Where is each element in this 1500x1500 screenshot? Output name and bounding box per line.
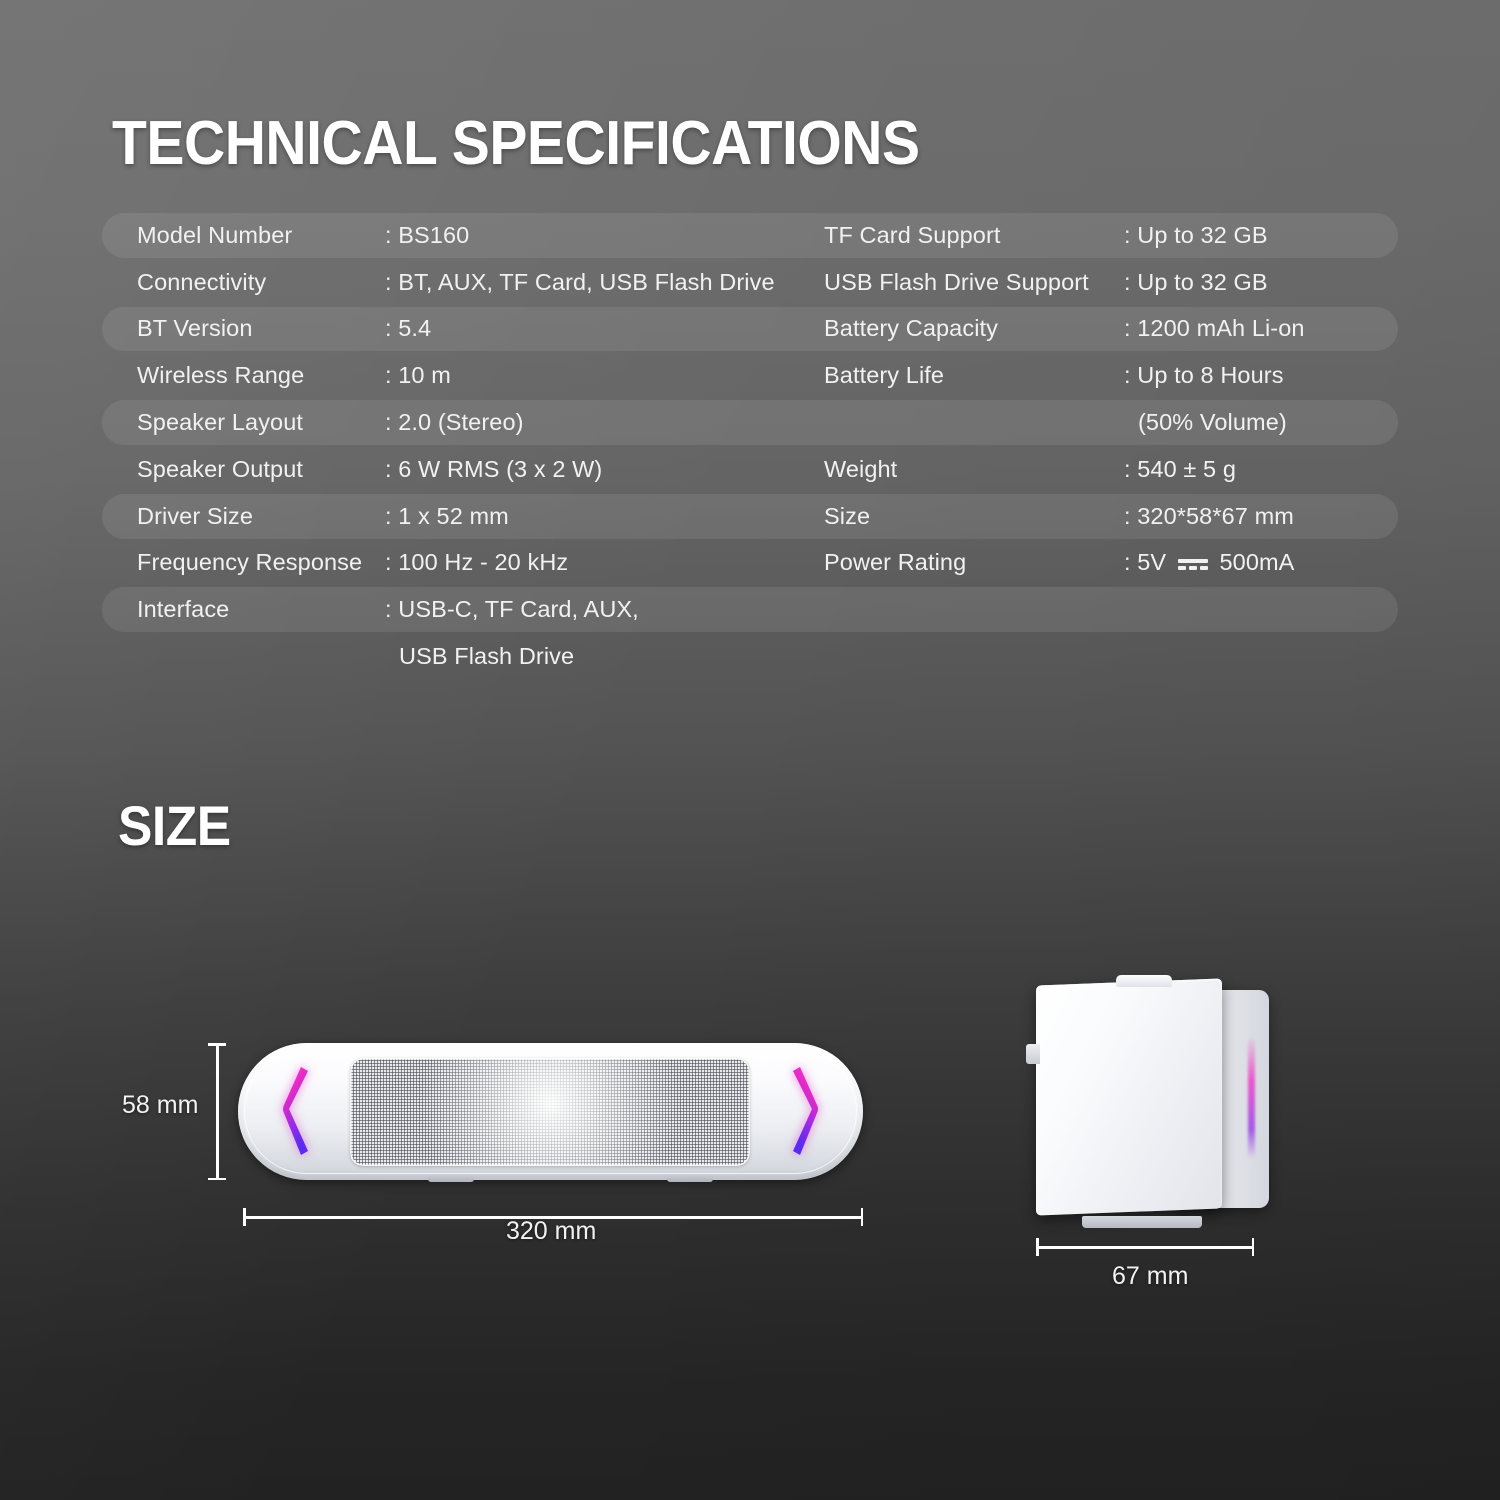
led-chevron-left-icon: [282, 1063, 316, 1159]
spec-label: Power Rating: [824, 549, 1124, 576]
spec-value: : 5.4: [385, 315, 431, 342]
speaker-foot-left: [428, 1175, 474, 1182]
table-row: Speaker Layout : 2.0 (Stereo) (50% Volum…: [102, 399, 1398, 446]
dimension-label-width: 320 mm: [506, 1217, 596, 1246]
speaker-side-panel: [1036, 978, 1222, 1215]
spec-value: : 6 W RMS (3 x 2 W): [385, 456, 602, 483]
spec-cell-left: Frequency Response : 100 Hz - 20 kHz: [102, 549, 814, 576]
dimension-cap-depth-right: [1252, 1238, 1255, 1256]
table-row: USB Flash Drive: [102, 633, 1398, 680]
speaker-side-view: [1034, 982, 1269, 1220]
table-row: Connectivity : BT, AUX, TF Card, USB Fla…: [102, 259, 1398, 306]
spec-cell-left: Driver Size : 1 x 52 mm: [102, 503, 814, 530]
spec-label: Model Number: [137, 222, 385, 249]
dimension-cap-width-left: [243, 1208, 246, 1226]
spec-value: : BS160: [385, 222, 469, 249]
spec-value-continuation: (50% Volume): [1124, 409, 1287, 436]
speaker-front-view: [238, 1043, 863, 1180]
spec-cell-left: Interface : USB-C, TF Card, AUX,: [102, 596, 814, 623]
speaker-top-nub: [1116, 975, 1172, 987]
specifications-table: Model Number : BS160 TF Card Support : U…: [102, 212, 1398, 680]
table-row: BT Version : 5.4 Battery Capacity : 1200…: [102, 306, 1398, 353]
spec-cell-right: TF Card Support : Up to 32 GB: [814, 222, 1398, 249]
spec-cell-left: Model Number : BS160: [102, 222, 814, 249]
spec-cell-right: USB Flash Drive Support : Up to 32 GB: [814, 269, 1398, 296]
dimension-label-depth: 67 mm: [1112, 1262, 1188, 1291]
led-chevron-right-icon: [785, 1063, 819, 1159]
dimension-label-height: 58 mm: [122, 1091, 198, 1120]
spec-label: Speaker Output: [137, 456, 385, 483]
page-title-technical-specifications: TECHNICAL SPECIFICATIONS: [112, 108, 920, 179]
spec-cell-right: (50% Volume): [814, 409, 1398, 436]
spec-cell-right: Weight : 540 ± 5 g: [814, 456, 1398, 483]
spec-value: : 1 x 52 mm: [385, 503, 509, 530]
dimension-line-depth: [1036, 1246, 1254, 1249]
spec-label: Interface: [137, 596, 385, 623]
spec-cell-left: Speaker Layout : 2.0 (Stereo): [102, 409, 814, 436]
spec-label: Weight: [824, 456, 1124, 483]
spec-value-continuation: USB Flash Drive: [385, 643, 574, 670]
dimension-line-height: [216, 1043, 219, 1180]
dimension-line-width: [243, 1216, 863, 1219]
table-row: Frequency Response : 100 Hz - 20 kHz Pow…: [102, 540, 1398, 587]
spec-label: Wireless Range: [137, 362, 385, 389]
dimension-cap-depth-left: [1036, 1238, 1039, 1256]
spec-value: : Up to 32 GB: [1124, 269, 1268, 296]
spec-label: USB Flash Drive Support: [824, 269, 1124, 296]
section-title-size: SIZE: [118, 793, 231, 858]
speaker-grille-mesh: [350, 1058, 750, 1166]
spec-value: : USB-C, TF Card, AUX,: [385, 596, 639, 623]
spec-cell-right: Power Rating : 5V 500mA: [814, 549, 1398, 576]
spec-label: Frequency Response: [137, 549, 385, 576]
spec-value: : Up to 32 GB: [1124, 222, 1268, 249]
power-rating-suffix: 500mA: [1219, 549, 1294, 575]
power-rating-prefix: : 5V: [1124, 549, 1166, 575]
spec-value: : 320*58*67 mm: [1124, 503, 1294, 530]
spec-cell-left: Wireless Range : 10 m: [102, 362, 814, 389]
spec-value: : 1200 mAh Li-on: [1124, 315, 1305, 342]
table-row: Speaker Output : 6 W RMS (3 x 2 W) Weigh…: [102, 446, 1398, 493]
spec-cell-left: BT Version : 5.4: [102, 315, 814, 342]
spec-value: : 540 ± 5 g: [1124, 456, 1236, 483]
spec-cell-left: USB Flash Drive: [102, 643, 814, 670]
spec-value-power-rating: : 5V 500mA: [1124, 549, 1294, 576]
dimension-cap-height-bottom: [208, 1178, 226, 1181]
table-row: Interface : USB-C, TF Card, AUX,: [102, 586, 1398, 633]
speaker-body: [238, 1043, 863, 1180]
table-row: Wireless Range : 10 m Battery Life : Up …: [102, 352, 1398, 399]
spec-label: Driver Size: [137, 503, 385, 530]
spec-cell-right: Battery Life : Up to 8 Hours: [814, 362, 1398, 389]
spec-value: : 2.0 (Stereo): [385, 409, 524, 436]
spec-label: Battery Capacity: [824, 315, 1124, 342]
spec-cell-left: Connectivity : BT, AUX, TF Card, USB Fla…: [102, 269, 814, 296]
spec-label: Battery Life: [824, 362, 1124, 389]
spec-label: Size: [824, 503, 1124, 530]
table-row: Driver Size : 1 x 52 mm Size : 320*58*67…: [102, 493, 1398, 540]
spec-value: : 10 m: [385, 362, 451, 389]
speaker-side-rear-panel: [1173, 990, 1269, 1208]
speaker-side-port: [1026, 1044, 1040, 1064]
spec-value: : 100 Hz - 20 kHz: [385, 549, 568, 576]
dimension-cap-height-top: [208, 1043, 226, 1046]
speaker-foot-right: [667, 1175, 713, 1182]
spec-label: TF Card Support: [824, 222, 1124, 249]
spec-cell-right: Battery Capacity : 1200 mAh Li-on: [814, 315, 1398, 342]
spec-cell-left: Speaker Output : 6 W RMS (3 x 2 W): [102, 456, 814, 483]
spec-label: Speaker Layout: [137, 409, 385, 436]
spec-value: : Up to 8 Hours: [1124, 362, 1284, 389]
spec-value: : BT, AUX, TF Card, USB Flash Drive: [385, 269, 775, 296]
spec-label: BT Version: [137, 315, 385, 342]
table-row: Model Number : BS160 TF Card Support : U…: [102, 212, 1398, 259]
speaker-side-foot: [1082, 1216, 1202, 1228]
led-side-glow: [1248, 1038, 1255, 1160]
spec-cell-right: Size : 320*58*67 mm: [814, 503, 1398, 530]
spec-label: Connectivity: [137, 269, 385, 296]
dc-power-symbol-icon: [1178, 556, 1208, 572]
dimension-cap-width-right: [861, 1208, 864, 1226]
